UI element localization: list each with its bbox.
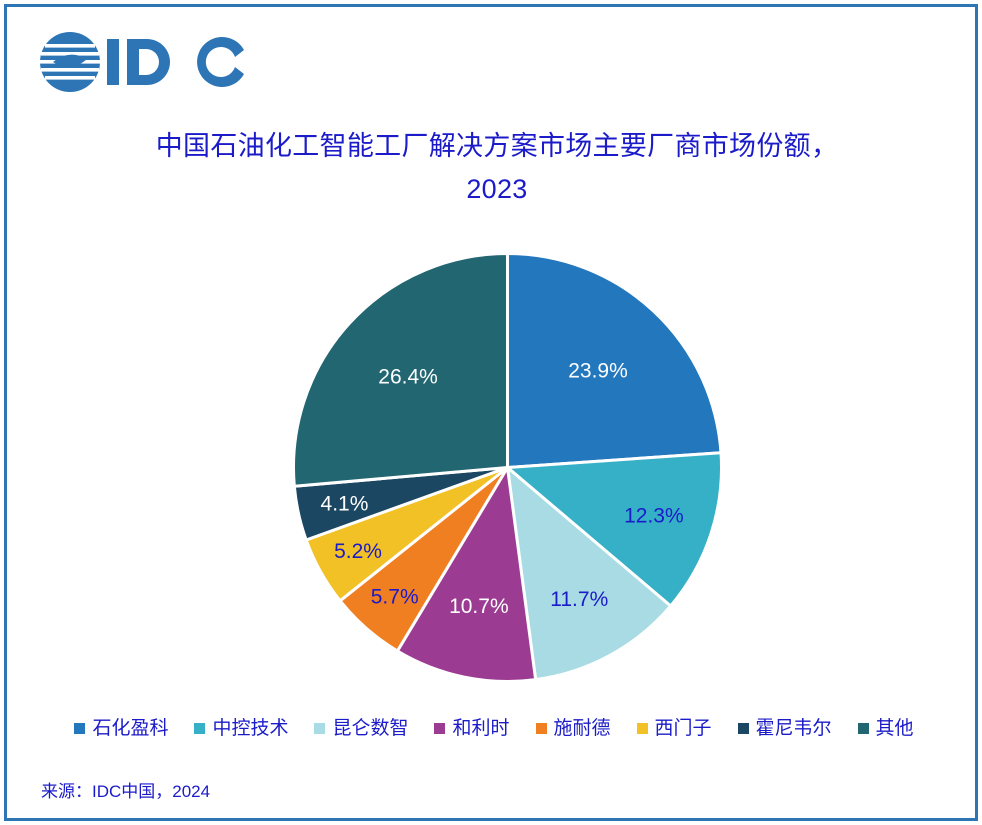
legend-swatch-icon bbox=[314, 723, 325, 734]
pie-chart: 23.9%12.3%11.7%10.7%5.7%5.2%4.1%26.4% bbox=[290, 250, 725, 685]
legend-swatch-icon bbox=[74, 723, 85, 734]
legend-swatch-icon bbox=[194, 723, 205, 734]
idc-globe-icon bbox=[40, 32, 100, 92]
legend-item[interactable]: 霍尼韦尔 bbox=[738, 719, 832, 738]
chart-title-line1: 中国石油化工智能工厂解决方案市场主要厂商市场份额， bbox=[97, 125, 897, 168]
legend-swatch-icon bbox=[858, 723, 869, 734]
legend-item-label: 和利时 bbox=[452, 719, 509, 738]
legend-item[interactable]: 施耐德 bbox=[536, 719, 611, 738]
legend-item[interactable]: 西门子 bbox=[637, 719, 712, 738]
source-note: 来源：IDC中国，2024 bbox=[41, 777, 210, 802]
legend-item[interactable]: 其他 bbox=[858, 719, 914, 738]
legend-item[interactable]: 中控技术 bbox=[194, 719, 288, 738]
legend-item-label: 施耐德 bbox=[554, 719, 611, 738]
legend-swatch-icon bbox=[637, 723, 648, 734]
legend-item-label: 西门子 bbox=[655, 719, 712, 738]
legend-item-label: 中控技术 bbox=[212, 719, 288, 738]
chart-page: 中国石油化工智能工厂解决方案市场主要厂商市场份额， 2023 23.9%12.3… bbox=[0, 0, 982, 825]
pie-slice-label: 12.3% bbox=[624, 505, 684, 528]
pie-chart-svg: 23.9%12.3%11.7%10.7%5.7%5.2%4.1%26.4% bbox=[290, 250, 725, 685]
legend-swatch-icon bbox=[434, 723, 445, 734]
legend-swatch-icon bbox=[536, 723, 547, 734]
chart-legend: 石化盈科中控技术昆仑数智和利时施耐德西门子霍尼韦尔其他 bbox=[7, 719, 981, 738]
legend-item-label: 石化盈科 bbox=[92, 719, 168, 738]
pie-slice-label: 5.2% bbox=[334, 540, 382, 563]
pie-slice-label: 11.7% bbox=[550, 588, 608, 611]
pie-slice-label: 26.4% bbox=[378, 365, 438, 388]
legend-item-label: 其他 bbox=[876, 719, 914, 738]
idc-logo bbox=[39, 31, 249, 93]
legend-item-label: 霍尼韦尔 bbox=[756, 719, 832, 738]
legend-item-label: 昆仑数智 bbox=[332, 719, 408, 738]
chart-frame: 中国石油化工智能工厂解决方案市场主要厂商市场份额， 2023 23.9%12.3… bbox=[4, 4, 978, 821]
pie-slice-label: 23.9% bbox=[568, 360, 628, 383]
pie-slice-label: 4.1% bbox=[321, 492, 369, 515]
legend-swatch-icon bbox=[738, 723, 749, 734]
chart-title-line2: 2023 bbox=[97, 168, 897, 211]
pie-slice-label: 10.7% bbox=[449, 595, 509, 618]
legend-item[interactable]: 和利时 bbox=[434, 719, 509, 738]
legend-item[interactable]: 石化盈科 bbox=[74, 719, 168, 738]
legend-item[interactable]: 昆仑数智 bbox=[314, 719, 408, 738]
pie-slice-label: 5.7% bbox=[371, 585, 419, 608]
chart-title: 中国石油化工智能工厂解决方案市场主要厂商市场份额， 2023 bbox=[97, 125, 897, 211]
